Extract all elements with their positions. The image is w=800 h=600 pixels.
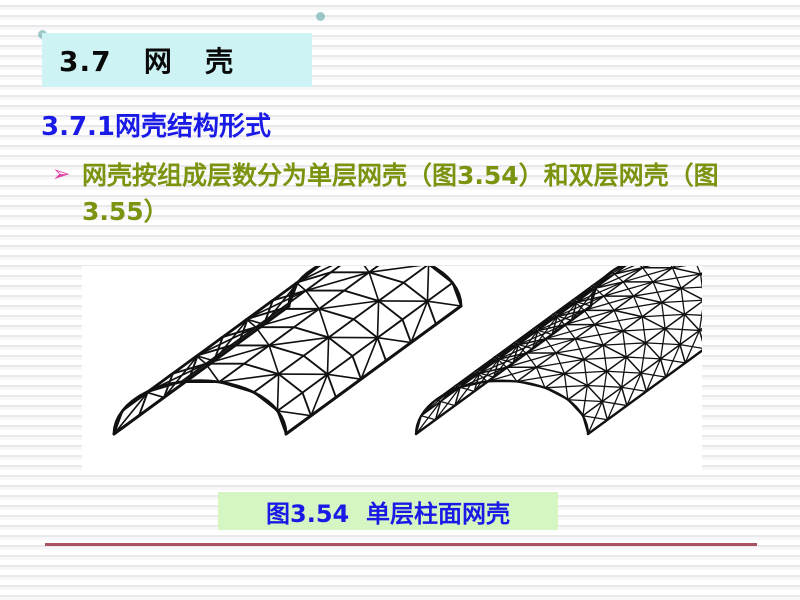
figure-image-panel: [82, 266, 702, 474]
latticed-shell-figure: [82, 266, 702, 474]
slide-title-box[interactable]: 3.7 网 壳: [42, 33, 312, 87]
bullet-item: ➢ 网壳按组成层数分为单层网壳（图3.54）和双层网壳（图3.55）: [52, 158, 752, 230]
footer-divider: [45, 543, 757, 546]
selection-handle-top-right[interactable]: [316, 12, 325, 21]
figure-caption-box: 图3.54 单层柱面网壳: [218, 492, 558, 530]
bullet-item-label: 网壳按组成层数分为单层网壳（图3.54）和双层网壳（图3.55）: [82, 158, 722, 230]
section-subheading: 3.7.1网壳结构形式: [41, 106, 271, 143]
slide-canvas: 3.7 网 壳 3.7.1网壳结构形式 ➢ 网壳按组成层数分为单层网壳（图3.5…: [0, 0, 800, 600]
figure-caption: 图3.54 单层柱面网壳: [266, 494, 510, 529]
arrow-bullet-icon: ➢: [52, 158, 82, 192]
page-title: 3.7 网 壳: [59, 40, 234, 80]
